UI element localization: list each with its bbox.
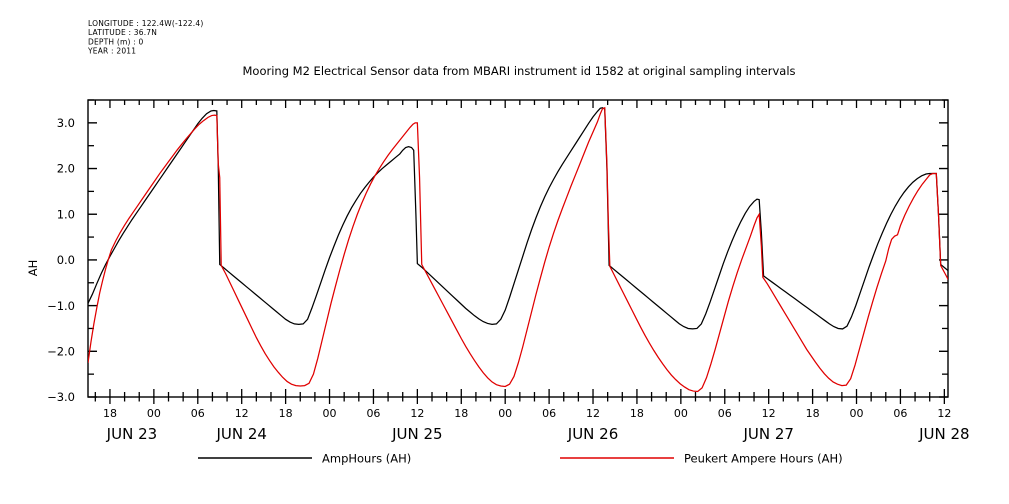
x-day-label: JUN 28 xyxy=(918,425,969,443)
chart-title: Mooring M2 Electrical Sensor data from M… xyxy=(243,64,796,78)
metadata-line-1: LATITUDE : 36.7N xyxy=(88,28,157,37)
x-day-label: JUN 23 xyxy=(106,425,157,443)
y-tick-label: 1.0 xyxy=(57,207,75,221)
chart-figure: LONGITUDE : 122.4W(-122.4)LATITUDE : 36.… xyxy=(0,0,1009,504)
metadata-line-2: DEPTH (m) : 0 xyxy=(88,37,143,46)
x-hour-label: 06 xyxy=(366,407,380,420)
y-tick-label: 0.0 xyxy=(57,253,75,267)
x-day-label: JUN 27 xyxy=(742,425,793,443)
y-axis-label: AH xyxy=(26,260,40,277)
metadata-line-3: YEAR : 2011 xyxy=(87,47,136,56)
x-hour-label: 12 xyxy=(586,407,600,420)
x-hour-label: 18 xyxy=(630,407,644,420)
x-hour-label: 06 xyxy=(718,407,732,420)
x-hour-label: 00 xyxy=(147,407,161,420)
y-tick-label: −3.0 xyxy=(47,390,75,404)
x-hour-label: 12 xyxy=(937,407,951,420)
x-hour-label: 00 xyxy=(850,407,864,420)
x-hour-label: 18 xyxy=(103,407,117,420)
y-tick-label: 3.0 xyxy=(57,116,75,130)
y-tick-label: 2.0 xyxy=(57,162,75,176)
x-hour-label: 00 xyxy=(674,407,688,420)
y-tick-label: −2.0 xyxy=(47,345,75,359)
x-hour-label: 18 xyxy=(454,407,468,420)
x-hour-label: 18 xyxy=(806,407,820,420)
x-day-label: JUN 26 xyxy=(567,425,618,443)
y-tick-label: −1.0 xyxy=(47,299,75,313)
x-hour-label: 06 xyxy=(542,407,556,420)
legend-label-0: AmpHours (AH) xyxy=(322,452,411,466)
x-hour-label: 12 xyxy=(410,407,424,420)
legend-label-1: Peukert Ampere Hours (AH) xyxy=(684,452,843,466)
x-hour-label: 12 xyxy=(762,407,776,420)
metadata-line-0: LONGITUDE : 122.4W(-122.4) xyxy=(88,19,203,28)
x-hour-label: 18 xyxy=(279,407,293,420)
x-hour-label: 06 xyxy=(191,407,205,420)
x-hour-label: 12 xyxy=(235,407,249,420)
x-day-label: JUN 25 xyxy=(391,425,442,443)
x-hour-label: 00 xyxy=(323,407,337,420)
x-day-label: JUN 24 xyxy=(215,425,266,443)
x-hour-label: 00 xyxy=(498,407,512,420)
x-hour-label: 06 xyxy=(893,407,907,420)
